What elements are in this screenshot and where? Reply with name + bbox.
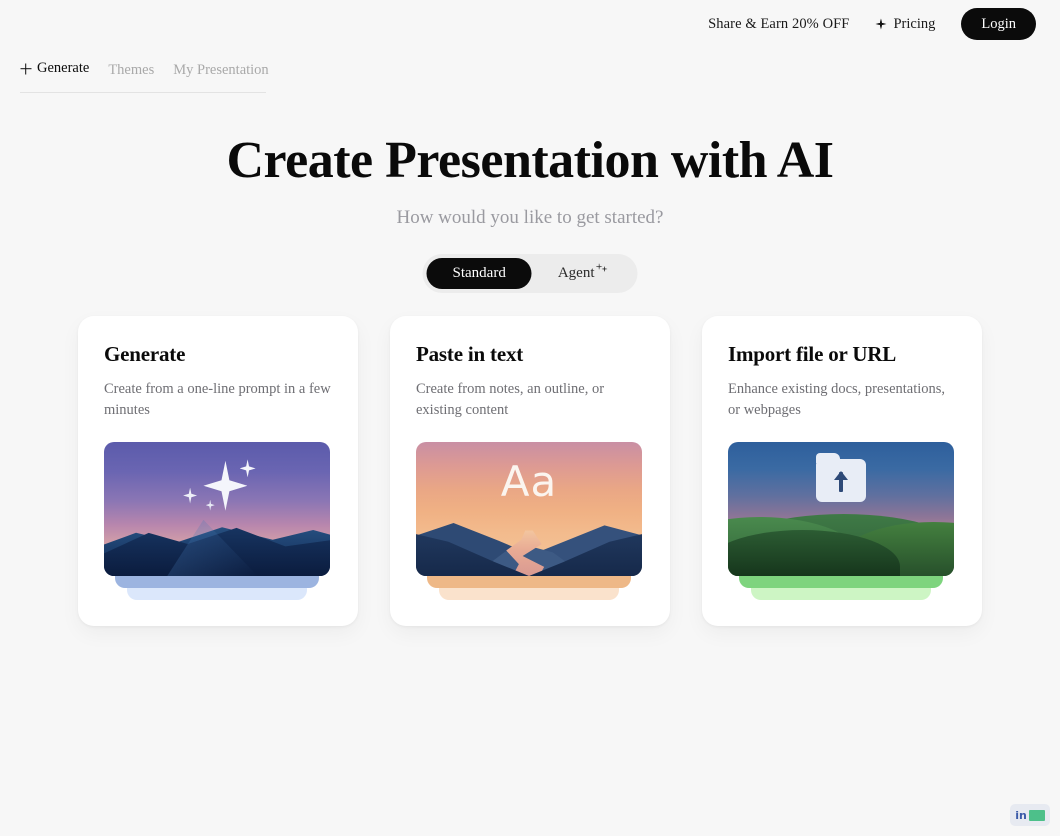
nav-item-my-presentation[interactable]: My Presentation [173,62,268,79]
badge-block-icon [1029,810,1045,821]
option-cards: Generate Create from a one-line prompt i… [78,316,982,626]
card-import-file-or-url-title: Import file or URL [728,342,956,367]
card-generate-title: Generate [104,342,332,367]
hero-section: Create Presentation with AI How would yo… [0,132,1060,229]
page-subtitle: How would you like to get started? [0,207,1060,229]
main-nav: Generate Themes My Presentation [20,60,266,93]
page-title: Create Presentation with AI [0,132,1060,189]
pricing-link[interactable]: Pricing [875,16,935,33]
thumbnail-night-mountain [104,442,330,576]
login-button[interactable]: Login [961,8,1036,41]
card-paste-in-text[interactable]: Paste in text Create from notes, an outl… [390,316,670,626]
browser-extension-badge[interactable]: in [1010,804,1050,826]
sparkles-icon [596,263,608,275]
folder-upload-icon [816,459,866,502]
nav-item-generate-label: Generate [37,60,89,77]
sparkle-icon [875,19,886,30]
share-and-earn-link[interactable]: Share & Earn 20% OFF [708,16,849,33]
mode-toggle-standard-label: Standard [453,266,506,281]
card-paste-in-text-description: Create from notes, an outline, or existi… [416,379,644,422]
card-import-file-or-url[interactable]: Import file or URL Enhance existing docs… [702,316,982,626]
nav-item-themes[interactable]: Themes [108,62,154,79]
thumbnail-sunset-valley: Aa [416,442,642,576]
card-import-file-or-url-description: Enhance existing docs, presentations, or… [728,379,956,422]
mode-toggle-agent-label: Agent [558,266,595,281]
card-paste-in-text-thumbnail-stack: Aa [416,442,642,576]
card-import-file-or-url-thumbnail-stack [728,442,954,576]
mode-toggle: Standard Agent [423,254,638,293]
top-bar: Share & Earn 20% OFF Pricing Login [708,0,1060,48]
card-paste-in-text-title: Paste in text [416,342,644,367]
mode-toggle-standard[interactable]: Standard [427,258,532,289]
mode-toggle-agent[interactable]: Agent [532,258,634,289]
badge-label: in [1015,810,1027,821]
card-generate-description: Create from a one-line prompt in a few m… [104,379,332,422]
nav-item-generate[interactable]: Generate [20,60,89,77]
plus-icon [20,63,31,74]
text-aa-icon: Aa [416,461,642,503]
pricing-label: Pricing [893,16,935,33]
card-generate[interactable]: Generate Create from a one-line prompt i… [78,316,358,626]
card-generate-thumbnail-stack [104,442,330,576]
thumbnail-green-hills [728,442,954,576]
